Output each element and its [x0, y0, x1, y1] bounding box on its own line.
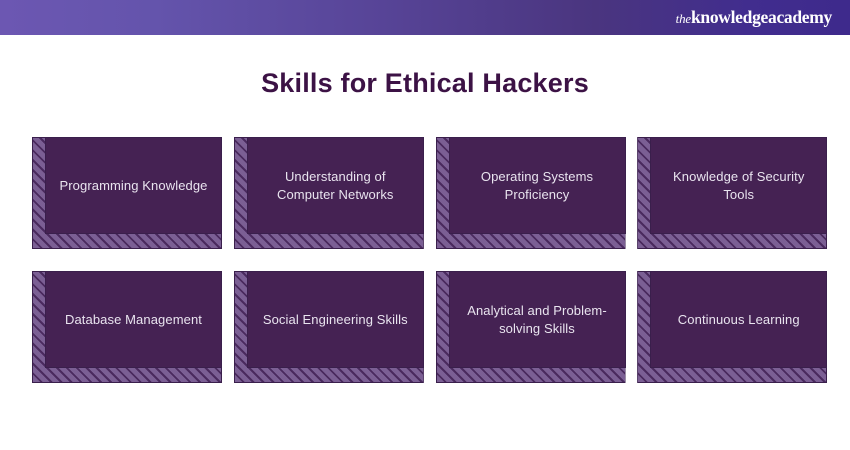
skill-box-face: Continuous Learning — [650, 271, 827, 368]
skills-grid: Programming Knowledge Understanding of C… — [32, 137, 822, 383]
skill-box-knowledge-of-security-tools: Knowledge of Security Tools — [637, 137, 822, 249]
skill-box-face: Knowledge of Security Tools — [650, 137, 827, 234]
brand-logo-name: knowledgeacademy — [691, 9, 832, 27]
skills-row: Database Management Social Engineering S… — [32, 271, 822, 383]
skill-box-label: Database Management — [65, 311, 202, 329]
skill-box-face: Analytical and Problem-solving Skills — [449, 271, 626, 368]
skill-box-face: Database Management — [45, 271, 222, 368]
skill-box-face: Programming Knowledge — [45, 137, 222, 234]
skill-box-label: Social Engineering Skills — [263, 311, 408, 329]
skill-box-label: Understanding of Computer Networks — [258, 168, 413, 204]
brand-logo-prefix: the — [676, 12, 691, 25]
skill-box-social-engineering-skills: Social Engineering Skills — [234, 271, 419, 383]
header-bar: theknowledgeacademy — [0, 0, 850, 35]
brand-logo: theknowledgeacademy — [676, 9, 832, 27]
skill-box-label: Continuous Learning — [678, 311, 800, 329]
skills-row: Programming Knowledge Understanding of C… — [32, 137, 822, 249]
page-title: Skills for Ethical Hackers — [0, 68, 850, 99]
skill-box-label: Programming Knowledge — [59, 177, 207, 195]
skill-box-continuous-learning: Continuous Learning — [637, 271, 822, 383]
skill-box-face: Social Engineering Skills — [247, 271, 424, 368]
skill-box-analytical-and-problem-solving-skills: Analytical and Problem-solving Skills — [436, 271, 621, 383]
skill-box-database-management: Database Management — [32, 271, 217, 383]
skill-box-label: Analytical and Problem-solving Skills — [460, 302, 615, 338]
skill-box-face: Understanding of Computer Networks — [247, 137, 424, 234]
skill-box-face: Operating Systems Proficiency — [449, 137, 626, 234]
skill-box-understanding-of-computer-networks: Understanding of Computer Networks — [234, 137, 419, 249]
skill-box-programming-knowledge: Programming Knowledge — [32, 137, 217, 249]
skill-box-label: Operating Systems Proficiency — [460, 168, 615, 204]
skill-box-operating-systems-proficiency: Operating Systems Proficiency — [436, 137, 621, 249]
skill-box-label: Knowledge of Security Tools — [661, 168, 816, 204]
